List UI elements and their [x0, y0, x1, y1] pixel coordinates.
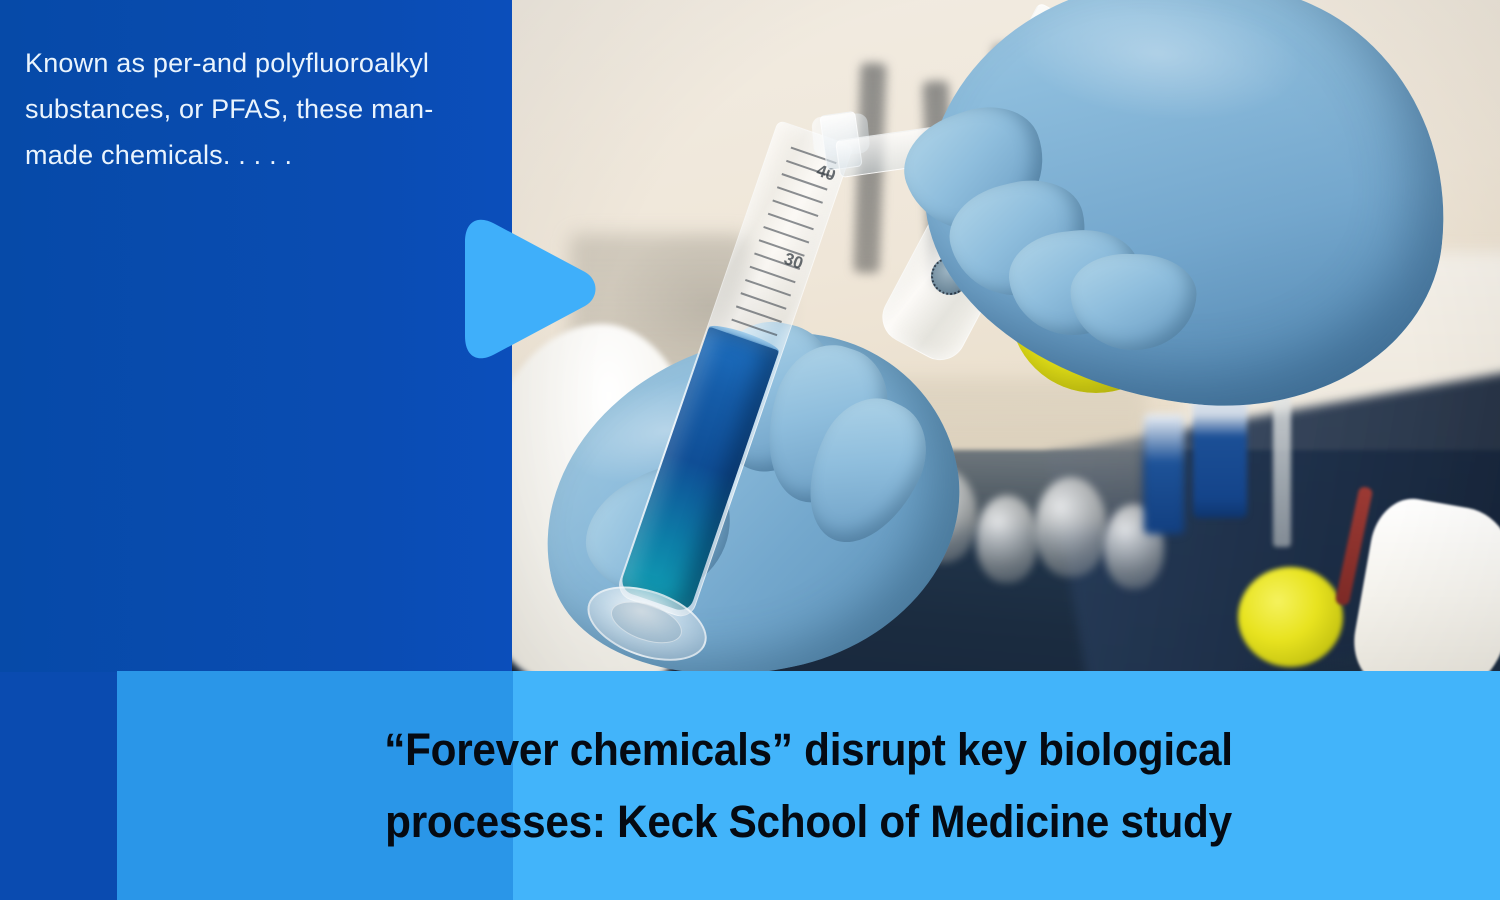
- background-beaker: [1035, 477, 1107, 577]
- headline-bar: “Forever chemicals” disrupt key biologic…: [117, 671, 1500, 900]
- lead-panel: Known as per-and polyfluoroalkyl substan…: [0, 0, 512, 672]
- play-button[interactable]: [465, 214, 597, 364]
- secondary-flask-neck: [1273, 387, 1291, 547]
- headline-line-2: processes: Keck School of Medicine study: [385, 786, 1232, 858]
- cylinder-base-inner: [606, 593, 688, 651]
- promo-card: 40 30: [0, 0, 1500, 900]
- background-blue-bottle: [1144, 414, 1184, 534]
- secondary-yellow-flask: [1238, 567, 1343, 667]
- finger: [1069, 252, 1198, 352]
- headline-line-1: “Forever chemicals” disrupt key biologic…: [384, 714, 1233, 786]
- headline: “Forever chemicals” disrupt key biologic…: [158, 671, 1458, 900]
- play-triangle-icon[interactable]: [465, 214, 597, 364]
- background-beaker: [976, 495, 1038, 583]
- lead-paragraph: Known as per-and polyfluoroalkyl substan…: [25, 40, 495, 178]
